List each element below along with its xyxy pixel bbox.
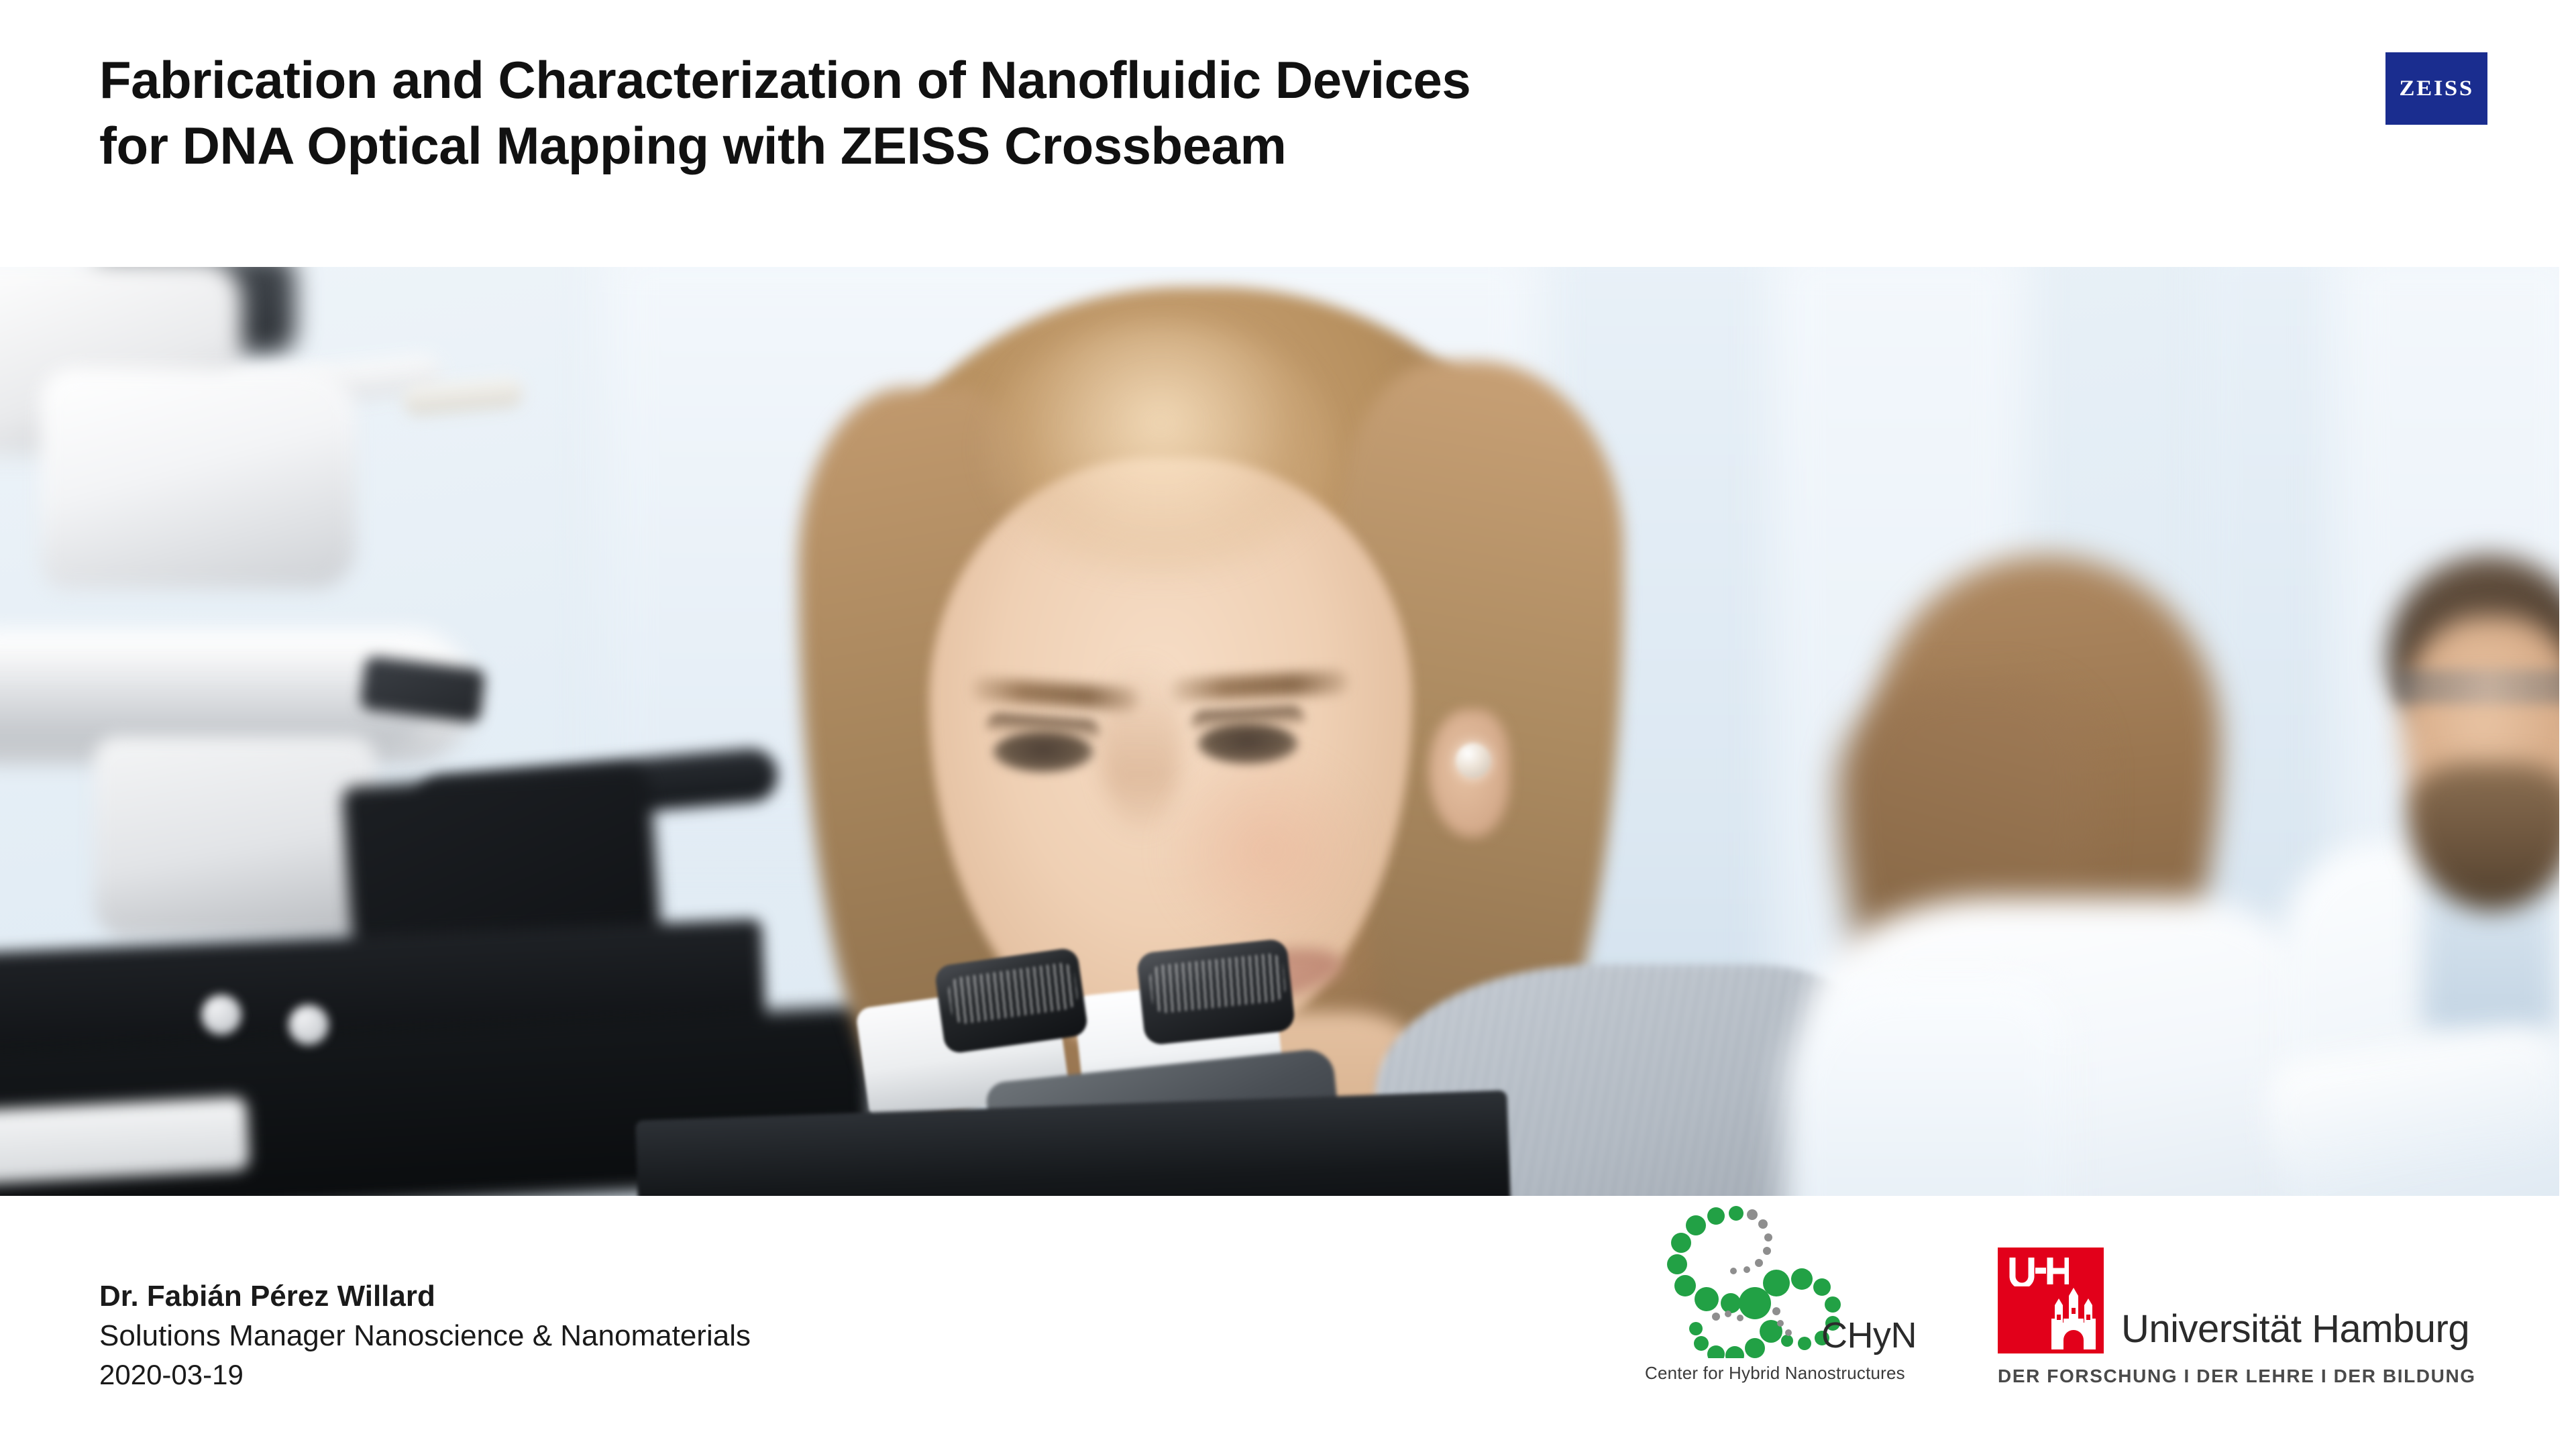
author-role: Solutions Manager Nanoscience & Nanomate… xyxy=(99,1316,751,1355)
uhh-uh-monogram xyxy=(2008,1256,2069,1286)
slide-title-line-2: for DNA Optical Mapping with ZEISS Cross… xyxy=(99,113,2045,178)
zeiss-logo: ZEISS xyxy=(2385,52,2487,125)
pearl-earring xyxy=(1456,743,1491,778)
uhh-name-text: Universität Hamburg xyxy=(2121,1307,2469,1351)
uhh-tagline: DER FORSCHUNG I DER LEHRE I DER BILDUNG xyxy=(1998,1366,2476,1387)
slide-title: Fabrication and Characterization of Nano… xyxy=(99,47,2045,179)
chyn-acronym: CHyN xyxy=(1821,1315,1917,1356)
hamburg-castle-icon xyxy=(2049,1288,2098,1349)
chyn-logo: CHyN Center for Hybrid Nanostructures xyxy=(1637,1204,1952,1398)
presentation-slide: Fabrication and Characterization of Nano… xyxy=(0,0,2576,1440)
presentation-date: 2020-03-19 xyxy=(99,1356,751,1394)
slide-title-line-1: Fabrication and Characterization of Nano… xyxy=(99,47,2045,113)
zeiss-logo-text: ZEISS xyxy=(2399,76,2473,101)
universitaet-hamburg-logo: Universität Hamburg DER FORSCHUNG I DER … xyxy=(1998,1248,2479,1390)
author-name: Dr. Fabián Pérez Willard xyxy=(99,1276,751,1316)
lab-microscope-photo xyxy=(0,267,2559,1196)
uhh-red-mark xyxy=(1998,1248,2104,1353)
chyn-full-name: Center for Hybrid Nanostructures xyxy=(1645,1363,1905,1384)
author-block: Dr. Fabián Pérez Willard Solutions Manag… xyxy=(99,1276,751,1394)
